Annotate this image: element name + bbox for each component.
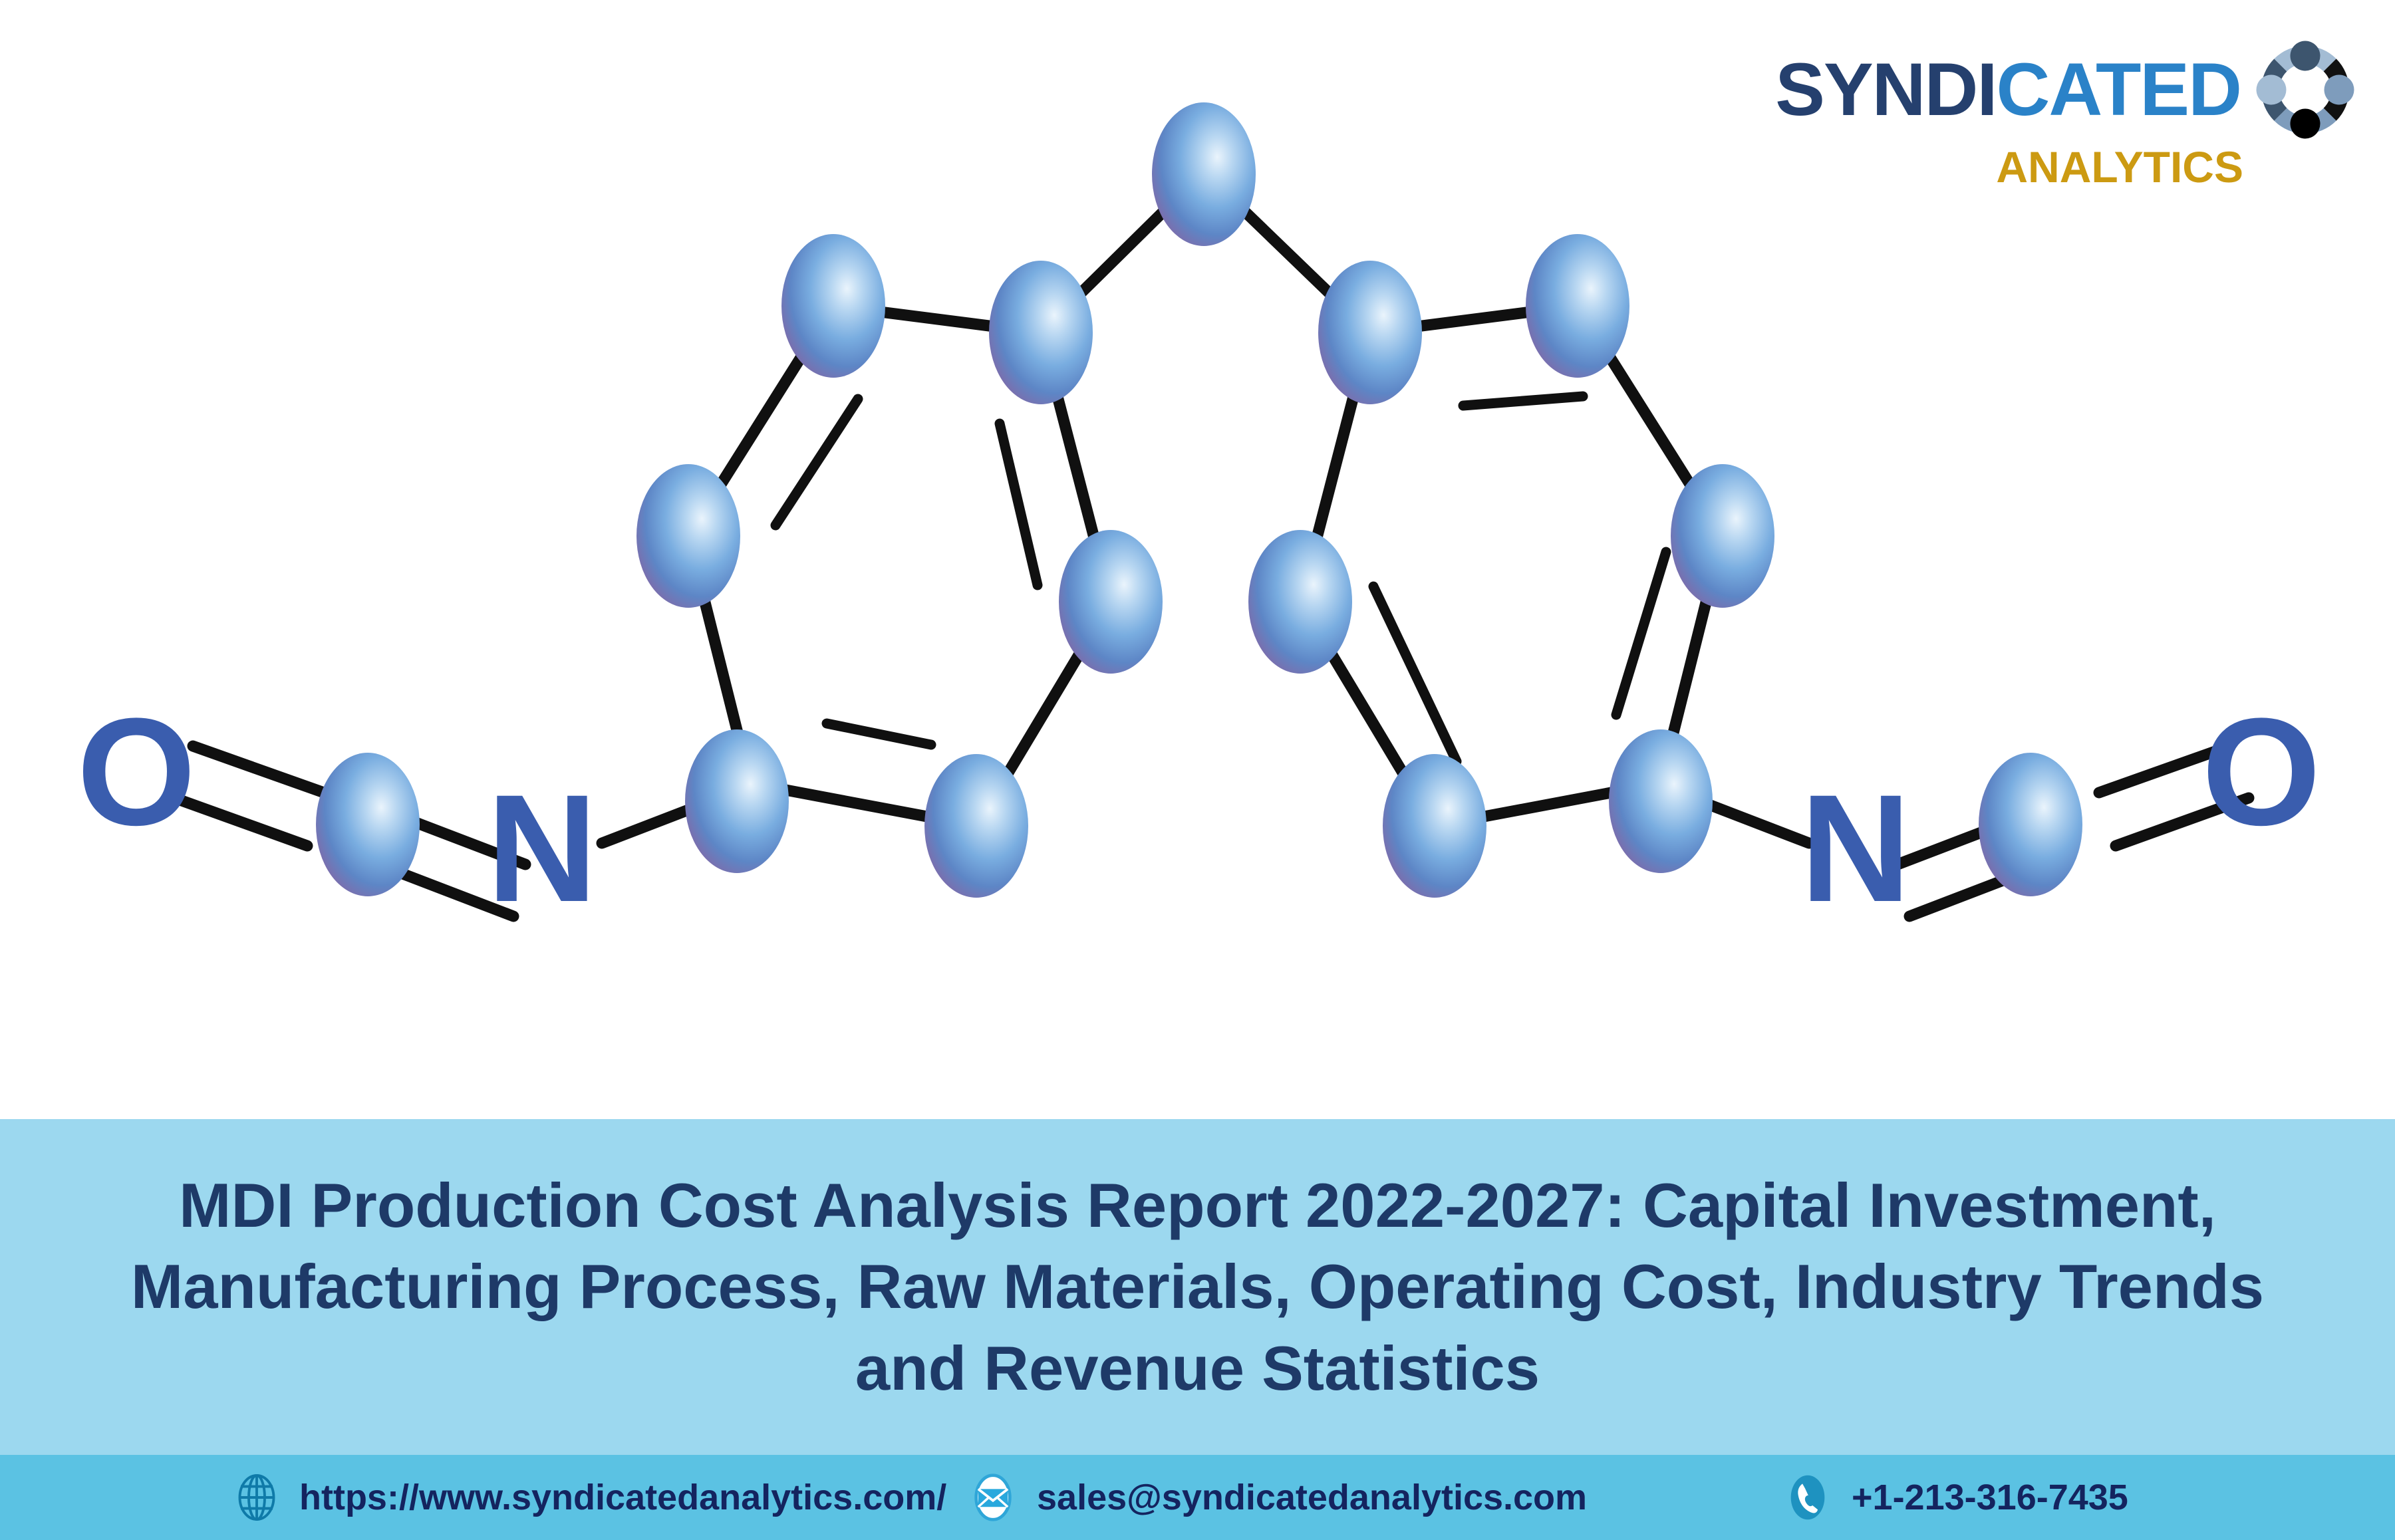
- atom-sphere: [316, 753, 420, 896]
- atom-sphere: [1383, 754, 1486, 898]
- atom-label-nitrogen-right: N: [1800, 763, 1911, 934]
- page-title: MDI Production Cost Analysis Report 2022…: [80, 1165, 2315, 1409]
- atom-sphere: [636, 464, 740, 608]
- atom-sphere: [1318, 261, 1422, 404]
- atom-sphere: [1059, 530, 1163, 674]
- banner-page: O N N O SYNDICATED: [0, 0, 2395, 1540]
- atom-sphere: [685, 729, 789, 873]
- phone-icon: [1782, 1472, 1833, 1523]
- atom-sphere: [1979, 753, 2082, 896]
- logo-wordmark-text: SYNDICATED: [1775, 53, 2241, 127]
- atom-sphere: [1248, 530, 1352, 674]
- footer-website-link[interactable]: https://www.syndicatedanalytics.com/: [233, 1474, 946, 1521]
- company-logo[interactable]: SYNDICATED ANALYTICS: [1775, 40, 2355, 189]
- logo-wordmark-row: SYNDICATED: [1775, 40, 2355, 140]
- molecule-bonds: [174, 185, 2249, 916]
- atom-label-oxygen-right: O: [2202, 686, 2321, 857]
- atom-label-oxygen-left: O: [77, 686, 196, 857]
- atom-sphere: [1671, 464, 1774, 608]
- atom-sphere-bridge: [1152, 102, 1256, 246]
- footer-contact-bar: https://www.syndicatedanalytics.com/ sal…: [0, 1455, 2395, 1540]
- atom-sphere: [781, 234, 885, 378]
- logo-word-cated: CATED: [1997, 48, 2241, 131]
- atom-label-nitrogen-left: N: [487, 763, 597, 934]
- footer-email-link[interactable]: sales@syndicatedanalytics.com: [968, 1472, 1587, 1523]
- footer-phone-text: +1-213-316-7435: [1852, 1479, 2128, 1515]
- logo-tagline: ANALYTICS: [1996, 145, 2243, 189]
- atom-sphere: [1526, 234, 1629, 378]
- envelope-icon: [968, 1472, 1018, 1523]
- footer-website-text: https://www.syndicatedanalytics.com/: [299, 1479, 946, 1515]
- atom-sphere: [1609, 729, 1713, 873]
- atom-sphere: [924, 754, 1028, 898]
- footer-email-text: sales@syndicatedanalytics.com: [1037, 1479, 1587, 1515]
- title-band: MDI Production Cost Analysis Report 2022…: [0, 1119, 2395, 1455]
- footer-phone-link[interactable]: +1-213-316-7435: [1782, 1472, 2128, 1523]
- logo-ring-mark-icon: [2255, 40, 2355, 140]
- atom-sphere: [989, 261, 1093, 404]
- globe-icon: [233, 1474, 281, 1521]
- logo-word-syndi: SYNDI: [1775, 48, 1996, 131]
